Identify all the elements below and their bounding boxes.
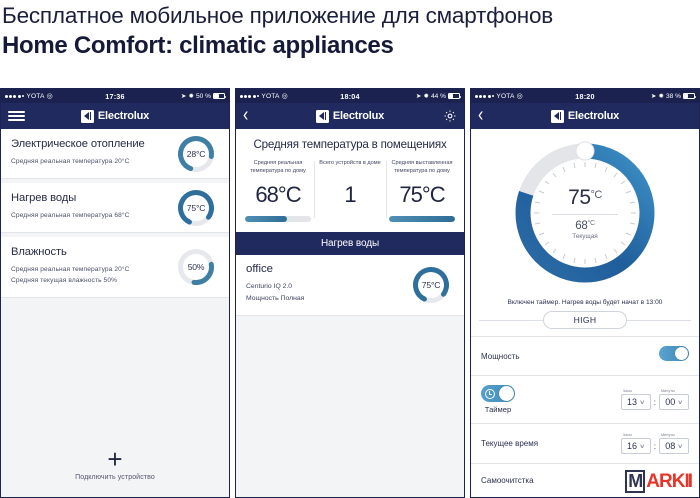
status-bar-3: YOTA ◎ 18:20 ➤ ✹ 38 % xyxy=(471,89,699,103)
stat-value: 68°C xyxy=(245,182,311,208)
temperature-dial[interactable]: 75°C 68°C Текущая xyxy=(471,129,699,297)
add-device-button[interactable]: + Подключить устройство xyxy=(1,450,229,481)
back-chevron-icon[interactable]: ‹ xyxy=(243,106,248,126)
brand-logo-2: Electrolux xyxy=(236,110,464,123)
timer-hours-picker[interactable]: Часы 13 ∨ xyxy=(621,389,651,410)
status-bar-2: YOTA ◎ 18:04 ➤ ✹ 44 % xyxy=(236,89,464,103)
plus-icon: + xyxy=(107,450,122,468)
phone-screenshots-row: YOTA ◎ 17:36 ➤ ✹ 50 % Electrolux xyxy=(0,88,700,498)
time-colon: : xyxy=(654,398,656,410)
minutes-value: 08 xyxy=(665,441,675,451)
dial-current-unit: °C xyxy=(587,220,594,227)
section-header: Нагрев воды xyxy=(236,232,464,255)
status-right-1: ➤ ✹ 50 % xyxy=(181,92,225,100)
timer-toggle[interactable] xyxy=(481,385,515,402)
bluetooth-icon: ✹ xyxy=(658,92,664,100)
brand-name: Electrolux xyxy=(333,110,384,122)
brand-name: Electrolux xyxy=(98,110,149,122)
battery-icon xyxy=(448,93,460,99)
add-device-label: Подключить устройство xyxy=(75,474,155,481)
list-item[interactable]: Нагрев воды Средняя реальная температура… xyxy=(1,183,229,233)
minutes-value: 00 xyxy=(665,397,675,407)
time-colon: : xyxy=(654,442,656,454)
nav-bar-1: Electrolux xyxy=(1,103,229,129)
minutes-select: 08 ∨ xyxy=(659,438,689,454)
location-arrow-icon: ➤ xyxy=(181,92,187,100)
watermark-text: ARK xyxy=(646,472,684,491)
stat-value: 1 xyxy=(317,182,383,208)
timer-row: Таймер Часы 13 ∨ : xyxy=(471,375,699,423)
power-label: Мощность xyxy=(481,352,519,361)
electrolux-mark-icon xyxy=(551,110,564,123)
phone-screen-2: YOTA ◎ 18:04 ➤ ✹ 44 % ‹ Electrolux xyxy=(235,88,465,498)
timer-time-pickers: Часы 13 ∨ : Минуты 00 xyxy=(621,389,689,410)
current-time-label: Текущее время xyxy=(481,439,538,448)
timer-control: Таймер xyxy=(481,385,515,414)
chevron-down-icon: ∨ xyxy=(677,399,683,406)
gauge-ring: 50% xyxy=(175,246,217,288)
electrolux-mark-icon xyxy=(81,110,94,123)
minutes-select: 00 ∨ xyxy=(659,394,689,410)
screen-2-body: Средняя температура в помещениях Средняя… xyxy=(236,129,464,497)
dial-current-caption: Текущая xyxy=(542,233,628,240)
stats-row: Средняя реальная температура по дому 68°… xyxy=(236,159,464,232)
screen-1-body: Электрическое отопление Средняя реальная… xyxy=(1,129,229,497)
current-time-pickers: Часы 16 ∨ : Минуты 08 xyxy=(621,433,689,454)
brand-logo-1: Electrolux xyxy=(1,110,229,123)
device-card[interactable]: office Centurio IQ 2.0 Мощность Полная 7… xyxy=(236,255,464,316)
electrolux-mark-icon xyxy=(316,110,329,123)
page-heading: Бесплатное мобильное приложение для смар… xyxy=(0,0,700,61)
current-hours-picker[interactable]: Часы 16 ∨ xyxy=(621,433,651,454)
chevron-down-icon: ∨ xyxy=(639,443,645,450)
hours-select: 16 ∨ xyxy=(621,438,651,454)
stat-progress-bar xyxy=(389,216,455,222)
dial-target-value: 75 xyxy=(568,186,590,209)
gear-icon[interactable] xyxy=(443,109,457,123)
heading-line-1: Бесплатное мобильное приложение для смар… xyxy=(2,2,700,30)
dial-divider xyxy=(552,214,618,215)
dial-readout: 75°C 68°C Текущая xyxy=(542,186,628,240)
battery-icon xyxy=(213,93,225,99)
hours-value: 16 xyxy=(627,441,637,451)
brand-logo-3: Electrolux xyxy=(471,110,699,123)
bluetooth-icon: ✹ xyxy=(188,92,194,100)
screen-3-body: 75°C 68°C Текущая Включен таймер. Нагрев… xyxy=(471,129,699,497)
stat-cell: Всего устройств в доме 1 xyxy=(314,159,386,222)
timer-label: Таймер xyxy=(485,405,511,414)
status-right-2: ➤ ✹ 44 % xyxy=(416,92,460,100)
stat-caption: Всего устройств в доме xyxy=(317,159,383,175)
battery-percent: 44 % xyxy=(431,93,446,100)
chevron-down-icon: ∨ xyxy=(677,443,683,450)
brand-name: Electrolux xyxy=(568,110,619,122)
clock-icon xyxy=(485,389,495,399)
watermark-logo: MARKII xyxy=(625,470,691,493)
list-item[interactable]: Влажность Средняя реальная температура 2… xyxy=(1,237,229,298)
hours-value: 13 xyxy=(627,397,637,407)
location-arrow-icon: ➤ xyxy=(651,92,657,100)
timer-note: Включен таймер. Нагрев воды будет начат … xyxy=(471,297,699,311)
timer-minutes-picker[interactable]: Минуты 00 ∨ xyxy=(659,389,689,410)
power-row: Мощность xyxy=(471,336,699,375)
gauge-ring: 28°C xyxy=(175,133,217,175)
hours-caption: Часы xyxy=(621,433,651,437)
divider-left xyxy=(479,320,543,321)
stat-caption: Средняя выставленная температура по дому xyxy=(389,159,455,175)
page-title: Средняя температура в помещениях xyxy=(236,129,464,159)
status-right-3: ➤ ✹ 38 % xyxy=(651,92,695,100)
nav-bar-3: ‹ Electrolux xyxy=(471,103,699,129)
status-bar-1: YOTA ◎ 17:36 ➤ ✹ 50 % xyxy=(1,89,229,103)
chevron-down-icon: ∨ xyxy=(639,399,645,406)
gauge-value: 28°C xyxy=(175,133,217,175)
selfclean-label: Самоочитстка xyxy=(481,476,534,485)
minutes-caption: Минуты xyxy=(659,433,689,437)
mode-selector: HIGH xyxy=(471,311,699,336)
list-item[interactable]: Электрическое отопление Средняя реальная… xyxy=(1,129,229,179)
stat-caption: Средняя реальная температура по дому xyxy=(245,159,311,175)
gauge-ring: 75°C xyxy=(410,264,452,306)
stat-cell: Средняя реальная температура по дому 68°… xyxy=(242,159,314,222)
phone-screen-3: YOTA ◎ 18:20 ➤ ✹ 38 % ‹ Electrolux xyxy=(470,88,700,498)
current-minutes-picker[interactable]: Минуты 08 ∨ xyxy=(659,433,689,454)
hours-select: 13 ∨ xyxy=(621,394,651,410)
watermark-boxed-letter: M xyxy=(625,470,645,493)
location-arrow-icon: ➤ xyxy=(416,92,422,100)
gauge-value: 75°C xyxy=(175,187,217,229)
battery-percent: 50 % xyxy=(196,93,211,100)
stat-progress-bar xyxy=(245,216,311,222)
gauge-ring: 75°C xyxy=(175,187,217,229)
stat-value: 75°C xyxy=(389,182,455,208)
mode-pill-button[interactable]: HIGH xyxy=(543,311,628,329)
page-root: Бесплатное мобильное приложение для смар… xyxy=(0,0,700,498)
gauge-value: 50% xyxy=(175,246,217,288)
back-chevron-icon[interactable]: ‹ xyxy=(478,106,483,126)
battery-percent: 38 % xyxy=(666,93,681,100)
minutes-caption: Минуты xyxy=(659,389,689,393)
dial-target-unit: °C xyxy=(591,189,602,201)
hamburger-menu-icon[interactable] xyxy=(8,111,25,121)
nav-bar-2: ‹ Electrolux xyxy=(236,103,464,129)
battery-icon xyxy=(683,93,695,99)
divider-right xyxy=(627,320,691,321)
watermark-tail: II xyxy=(684,472,691,491)
power-toggle[interactable] xyxy=(659,346,689,361)
heading-line-2: Home Comfort: climatic appliances xyxy=(2,31,700,61)
stat-cell: Средняя выставленная температура по дому… xyxy=(386,159,458,222)
dial-target-temp: 75°C xyxy=(542,186,628,210)
dial-current-value: 68 xyxy=(575,220,587,232)
gauge-value: 75°C xyxy=(410,264,452,306)
hours-caption: Часы xyxy=(621,389,651,393)
phone-screen-1: YOTA ◎ 17:36 ➤ ✹ 50 % Electrolux xyxy=(0,88,230,498)
current-time-row: Текущее время Часы 16 ∨ : xyxy=(471,423,699,463)
dial-current-temp: 68°C xyxy=(542,220,628,232)
bluetooth-icon: ✹ xyxy=(423,92,429,100)
